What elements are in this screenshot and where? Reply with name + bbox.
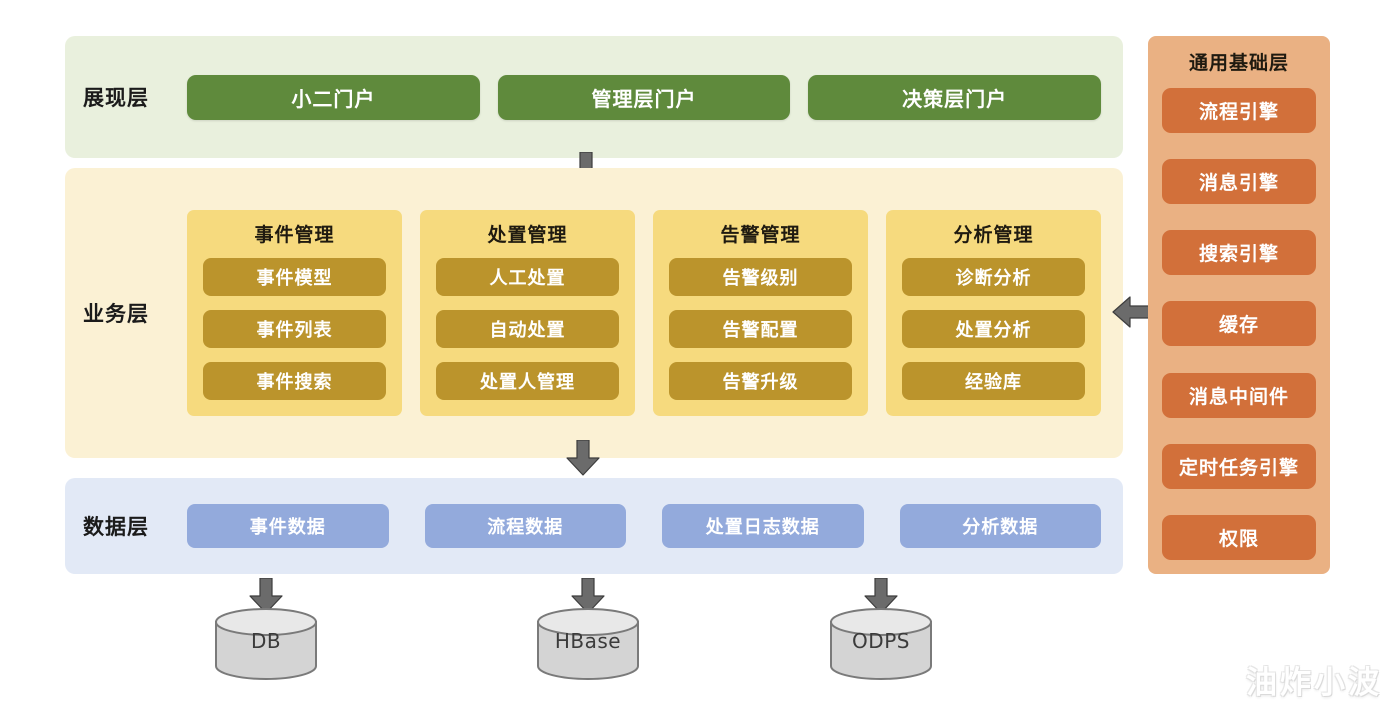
business-column-title: 分析管理 <box>902 220 1085 247</box>
presentation-layer-label: 展现层 <box>83 82 179 112</box>
infrastructure-layer-title: 通用基础层 <box>1162 48 1316 75</box>
infra-item-search-engine[interactable]: 搜索引擎 <box>1162 230 1316 275</box>
storage-label-odps: ODPS <box>829 629 933 653</box>
infra-item-process-engine[interactable]: 流程引擎 <box>1162 88 1316 133</box>
arrow-business-to-data-icon <box>566 440 600 476</box>
portal-item-decision[interactable]: 决策层门户 <box>808 75 1101 120</box>
business-layer-label: 业务层 <box>83 298 179 328</box>
infrastructure-item-list: 流程引擎 消息引擎 搜索引擎 缓存 消息中间件 定时任务引擎 权限 <box>1162 88 1316 560</box>
business-item-auto-disposal[interactable]: 自动处置 <box>436 310 619 348</box>
presentation-layer: 展现层 小二门户 管理层门户 决策层门户 <box>65 36 1123 158</box>
data-layer: 数据层 事件数据 流程数据 处置日志数据 分析数据 <box>65 478 1123 574</box>
business-column-title: 处置管理 <box>436 220 619 247</box>
business-layer: 业务层 事件管理 事件模型 事件列表 事件搜索 处置管理 人工处置 自动处置 处… <box>65 168 1123 458</box>
infra-item-message-engine[interactable]: 消息引擎 <box>1162 159 1316 204</box>
infra-item-cache[interactable]: 缓存 <box>1162 301 1316 346</box>
infra-item-scheduled-task-engine[interactable]: 定时任务引擎 <box>1162 444 1316 489</box>
business-column-alarm-management: 告警管理 告警级别 告警配置 告警升级 <box>653 210 868 416</box>
business-item-alarm-level[interactable]: 告警级别 <box>669 258 852 296</box>
architecture-diagram-canvas: 展现层 小二门户 管理层门户 决策层门户 业务层 事件管理 事件模型 事件列表 … <box>0 0 1400 712</box>
business-column-disposal-management: 处置管理 人工处置 自动处置 处置人管理 <box>420 210 635 416</box>
storage-label-db: DB <box>214 629 318 653</box>
business-item-event-list[interactable]: 事件列表 <box>203 310 386 348</box>
watermark: 油炸小波 <box>1246 657 1382 702</box>
business-item-alarm-escalation[interactable]: 告警升级 <box>669 362 852 400</box>
business-column-title: 告警管理 <box>669 220 852 247</box>
business-column-event-management: 事件管理 事件模型 事件列表 事件搜索 <box>187 210 402 416</box>
business-item-manual-disposal[interactable]: 人工处置 <box>436 258 619 296</box>
data-item-analysis-data[interactable]: 分析数据 <box>900 504 1102 548</box>
business-item-alarm-config[interactable]: 告警配置 <box>669 310 852 348</box>
portal-item-management[interactable]: 管理层门户 <box>498 75 791 120</box>
portal-button-row: 小二门户 管理层门户 决策层门户 <box>179 75 1101 120</box>
data-item-event-data[interactable]: 事件数据 <box>187 504 389 548</box>
business-column-row: 事件管理 事件模型 事件列表 事件搜索 处置管理 人工处置 自动处置 处置人管理… <box>179 210 1101 416</box>
business-item-event-model[interactable]: 事件模型 <box>203 258 386 296</box>
infrastructure-layer: 通用基础层 流程引擎 消息引擎 搜索引擎 缓存 消息中间件 定时任务引擎 权限 <box>1148 36 1330 574</box>
data-item-disposal-log-data[interactable]: 处置日志数据 <box>662 504 864 548</box>
infra-item-permission[interactable]: 权限 <box>1162 515 1316 560</box>
storage-label-hbase: HBase <box>536 629 640 653</box>
business-column-title: 事件管理 <box>203 220 386 247</box>
business-item-disposal-analysis[interactable]: 处置分析 <box>902 310 1085 348</box>
business-item-handler-management[interactable]: 处置人管理 <box>436 362 619 400</box>
arrow-infra-to-business-icon <box>1112 296 1150 328</box>
data-button-row: 事件数据 流程数据 处置日志数据 分析数据 <box>179 504 1101 548</box>
portal-item-xiaoer[interactable]: 小二门户 <box>187 75 480 120</box>
business-column-analysis-management: 分析管理 诊断分析 处置分析 经验库 <box>886 210 1101 416</box>
business-item-event-search[interactable]: 事件搜索 <box>203 362 386 400</box>
infra-item-message-middleware[interactable]: 消息中间件 <box>1162 373 1316 418</box>
data-layer-label: 数据层 <box>83 511 179 541</box>
business-item-diagnostic-analysis[interactable]: 诊断分析 <box>902 258 1085 296</box>
business-item-knowledge-base[interactable]: 经验库 <box>902 362 1085 400</box>
data-item-process-data[interactable]: 流程数据 <box>425 504 627 548</box>
